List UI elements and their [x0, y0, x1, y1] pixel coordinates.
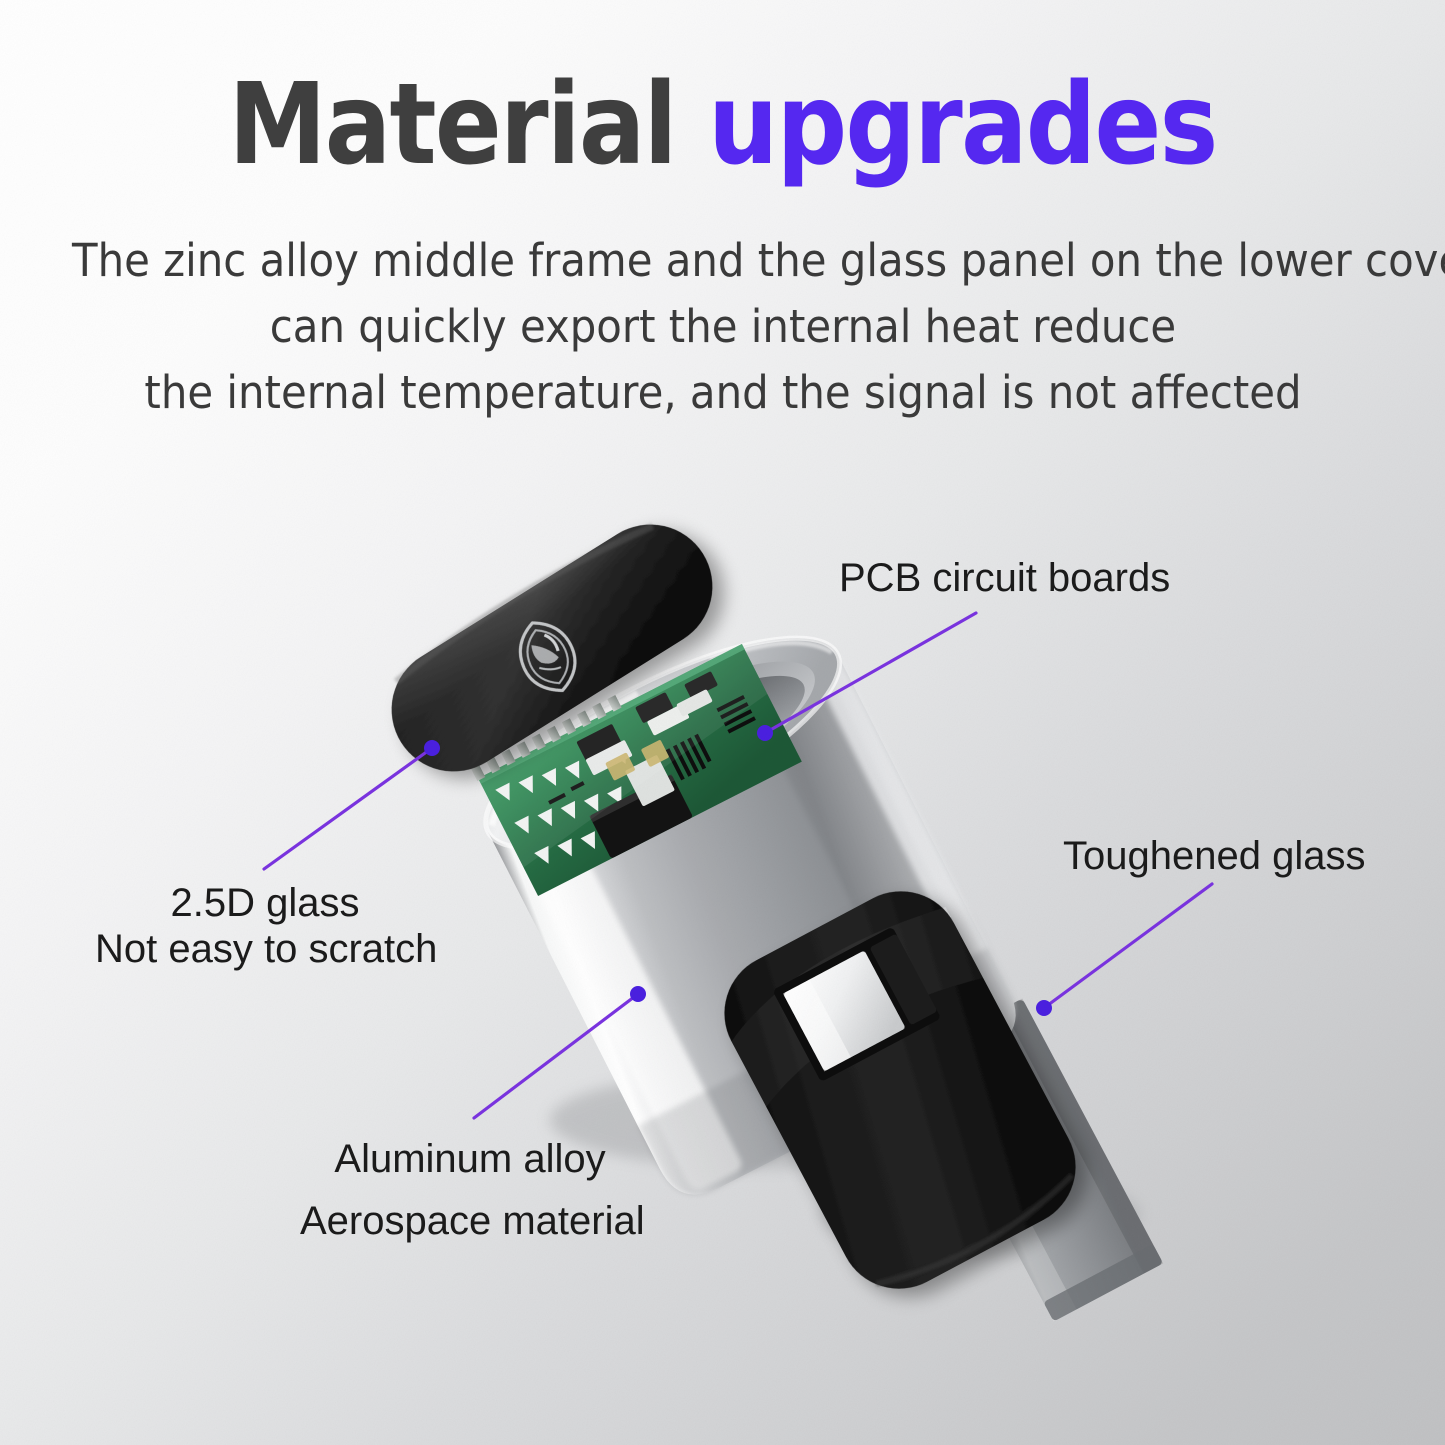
callout-label-pcb: PCB circuit boards — [839, 554, 1170, 602]
callout-label-aluminum: Aluminum alloy Aerospace material — [300, 1128, 640, 1252]
callout-label-toughened-glass: Toughened glass — [1063, 832, 1365, 880]
callout-label-toughened-glass-line-1: Toughened glass — [1063, 832, 1365, 880]
callout-label-pcb-line-1: PCB circuit boards — [839, 554, 1170, 602]
page-title-dark: Material — [228, 60, 675, 190]
subtitle-line-3: the internal temperature, and the signal… — [72, 360, 1374, 426]
infographic-page: Material upgrades The zinc alloy middle … — [0, 0, 1445, 1445]
callout-label-2-5d-glass-line-1: 2.5D glass — [95, 880, 435, 926]
page-title: Material upgrades — [87, 66, 1359, 184]
anchor-dot-aluminum — [630, 986, 646, 1002]
anchor-dot-2-5d-glass — [424, 740, 440, 756]
callout-label-aluminum-line-1: Aluminum alloy — [300, 1128, 640, 1190]
subtitle-line-2: can quickly export the internal heat red… — [72, 294, 1374, 360]
page-title-accent: upgrades — [708, 60, 1216, 190]
subtitle-line-1: The zinc alloy middle frame and the glas… — [72, 228, 1374, 294]
anchor-dot-toughened-glass — [1036, 1000, 1052, 1016]
leader-line-2-5d-glass — [264, 748, 432, 869]
callout-label-aluminum-line-2: Aerospace material — [300, 1190, 640, 1252]
anchor-dot-pcb — [757, 725, 773, 741]
leader-line-toughened-glass — [1044, 884, 1212, 1008]
product-exploded-view — [0, 0, 1445, 1445]
callout-label-2-5d-glass: 2.5D glass Not easy to scratch — [95, 880, 435, 972]
callout-label-2-5d-glass-line-2: Not easy to scratch — [95, 926, 435, 972]
page-subtitle: The zinc alloy middle frame and the glas… — [72, 228, 1374, 426]
